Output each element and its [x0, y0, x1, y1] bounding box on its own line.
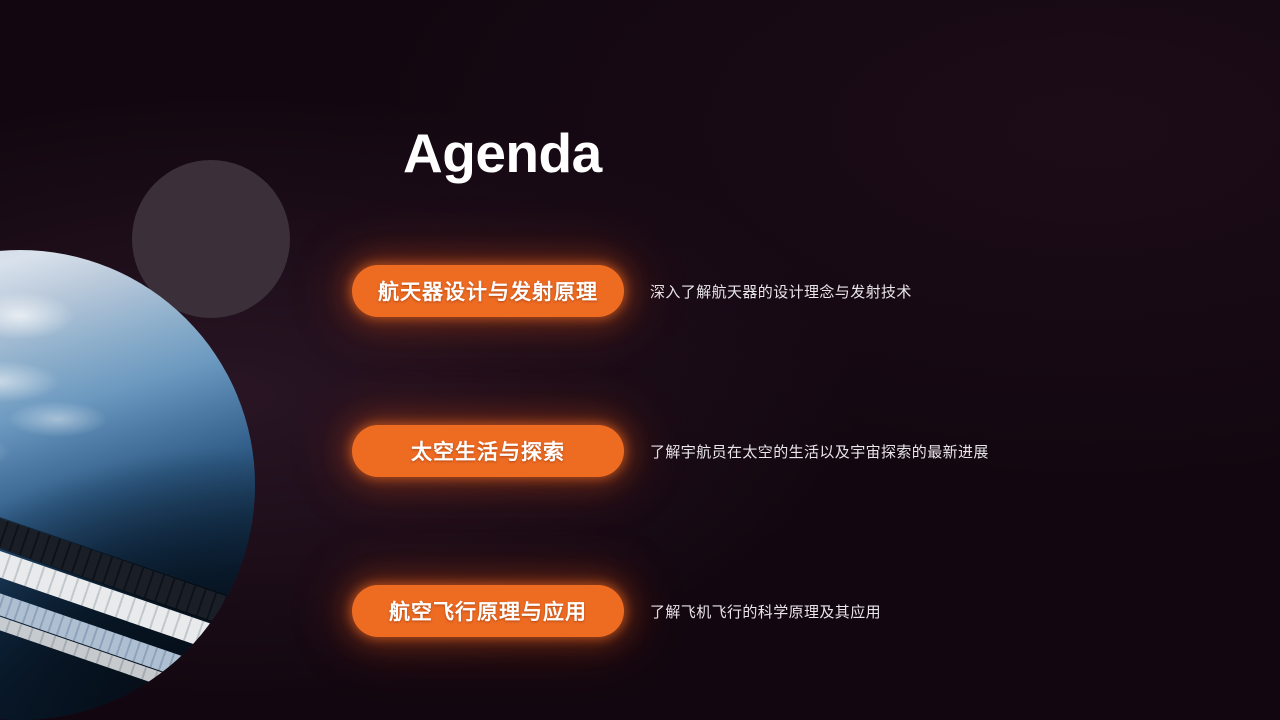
presentation-slide: Agenda 航天器设计与发射原理 深入了解航天器的设计理念与发射技术 太空生活…	[0, 0, 1280, 720]
agenda-item-1[interactable]: 航天器设计与发射原理 深入了解航天器的设计理念与发射技术	[352, 265, 1112, 317]
agenda-pill-3[interactable]: 航空飞行原理与应用	[352, 585, 624, 637]
page-title: Agenda	[403, 126, 602, 181]
agenda-item-3[interactable]: 航空飞行原理与应用 了解飞机飞行的科学原理及其应用	[352, 585, 1112, 637]
agenda-pill-2[interactable]: 太空生活与探索	[352, 425, 624, 477]
agenda-pill-label-3: 航空飞行原理与应用	[389, 596, 587, 626]
space-photo-circle	[0, 250, 255, 720]
agenda-pill-label-2: 太空生活与探索	[411, 436, 565, 466]
agenda-description-2: 了解宇航员在太空的生活以及宇宙探索的最新进展	[650, 441, 989, 462]
agenda-pill-1[interactable]: 航天器设计与发射原理	[352, 265, 624, 317]
agenda-description-3: 了解飞机飞行的科学原理及其应用	[650, 601, 881, 622]
agenda-description-1: 深入了解航天器的设计理念与发射技术	[650, 281, 912, 302]
agenda-item-2[interactable]: 太空生活与探索 了解宇航员在太空的生活以及宇宙探索的最新进展	[352, 425, 1112, 477]
earth-image	[0, 250, 255, 720]
agenda-pill-label-1: 航天器设计与发射原理	[378, 276, 598, 306]
